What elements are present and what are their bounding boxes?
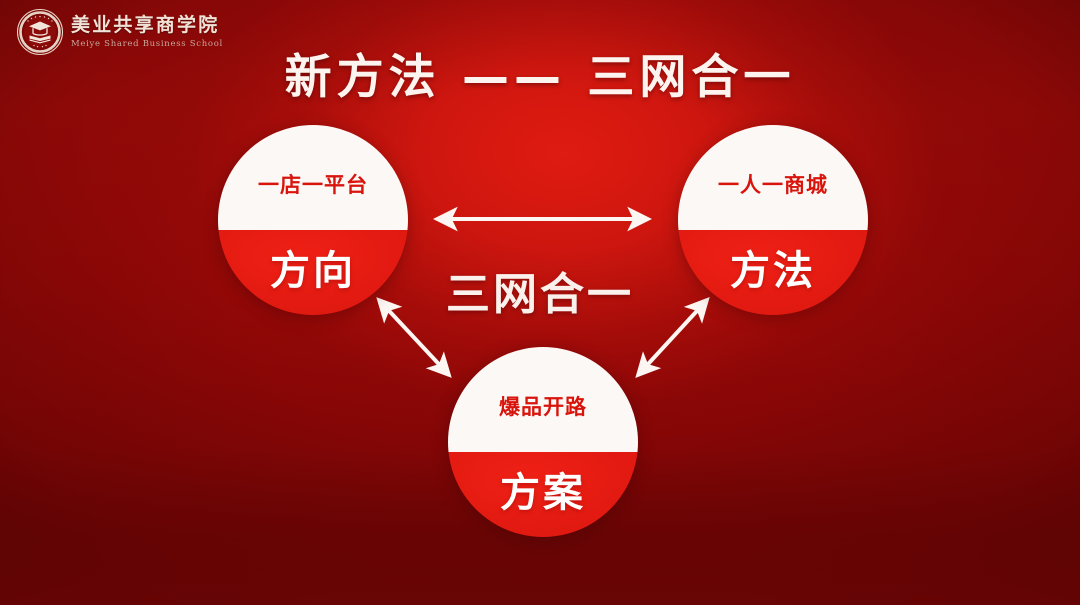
slide-title: 新方法 —— 三网合一 bbox=[0, 38, 1080, 107]
node-subtitle: 一店一平台 bbox=[258, 169, 368, 199]
brand-name-cn: 美业共享商学院 bbox=[71, 16, 223, 35]
node-plan[interactable]: 爆品开路 方案 bbox=[448, 347, 638, 537]
node-title: 方向 bbox=[270, 238, 356, 296]
slide-canvas: 美业共享商学院 Meiye Shared Business School 新方法… bbox=[0, 0, 1080, 605]
node-method[interactable]: 一人一商城 方法 bbox=[678, 125, 868, 315]
node-bottom-half: 方案 bbox=[448, 452, 638, 538]
center-label: 三网合一 bbox=[446, 258, 634, 322]
node-top-half: 爆品开路 bbox=[448, 347, 638, 452]
node-title: 方案 bbox=[500, 460, 586, 518]
node-bottom-half: 方向 bbox=[218, 230, 408, 316]
node-top-half: 一店一平台 bbox=[218, 125, 408, 230]
node-top-half: 一人一商城 bbox=[678, 125, 868, 230]
node-bottom-half: 方法 bbox=[678, 230, 868, 316]
node-title: 方法 bbox=[730, 238, 816, 296]
node-subtitle: 一人一商城 bbox=[718, 169, 828, 199]
node-direction[interactable]: 一店一平台 方向 bbox=[218, 125, 408, 315]
node-subtitle: 爆品开路 bbox=[499, 391, 587, 421]
